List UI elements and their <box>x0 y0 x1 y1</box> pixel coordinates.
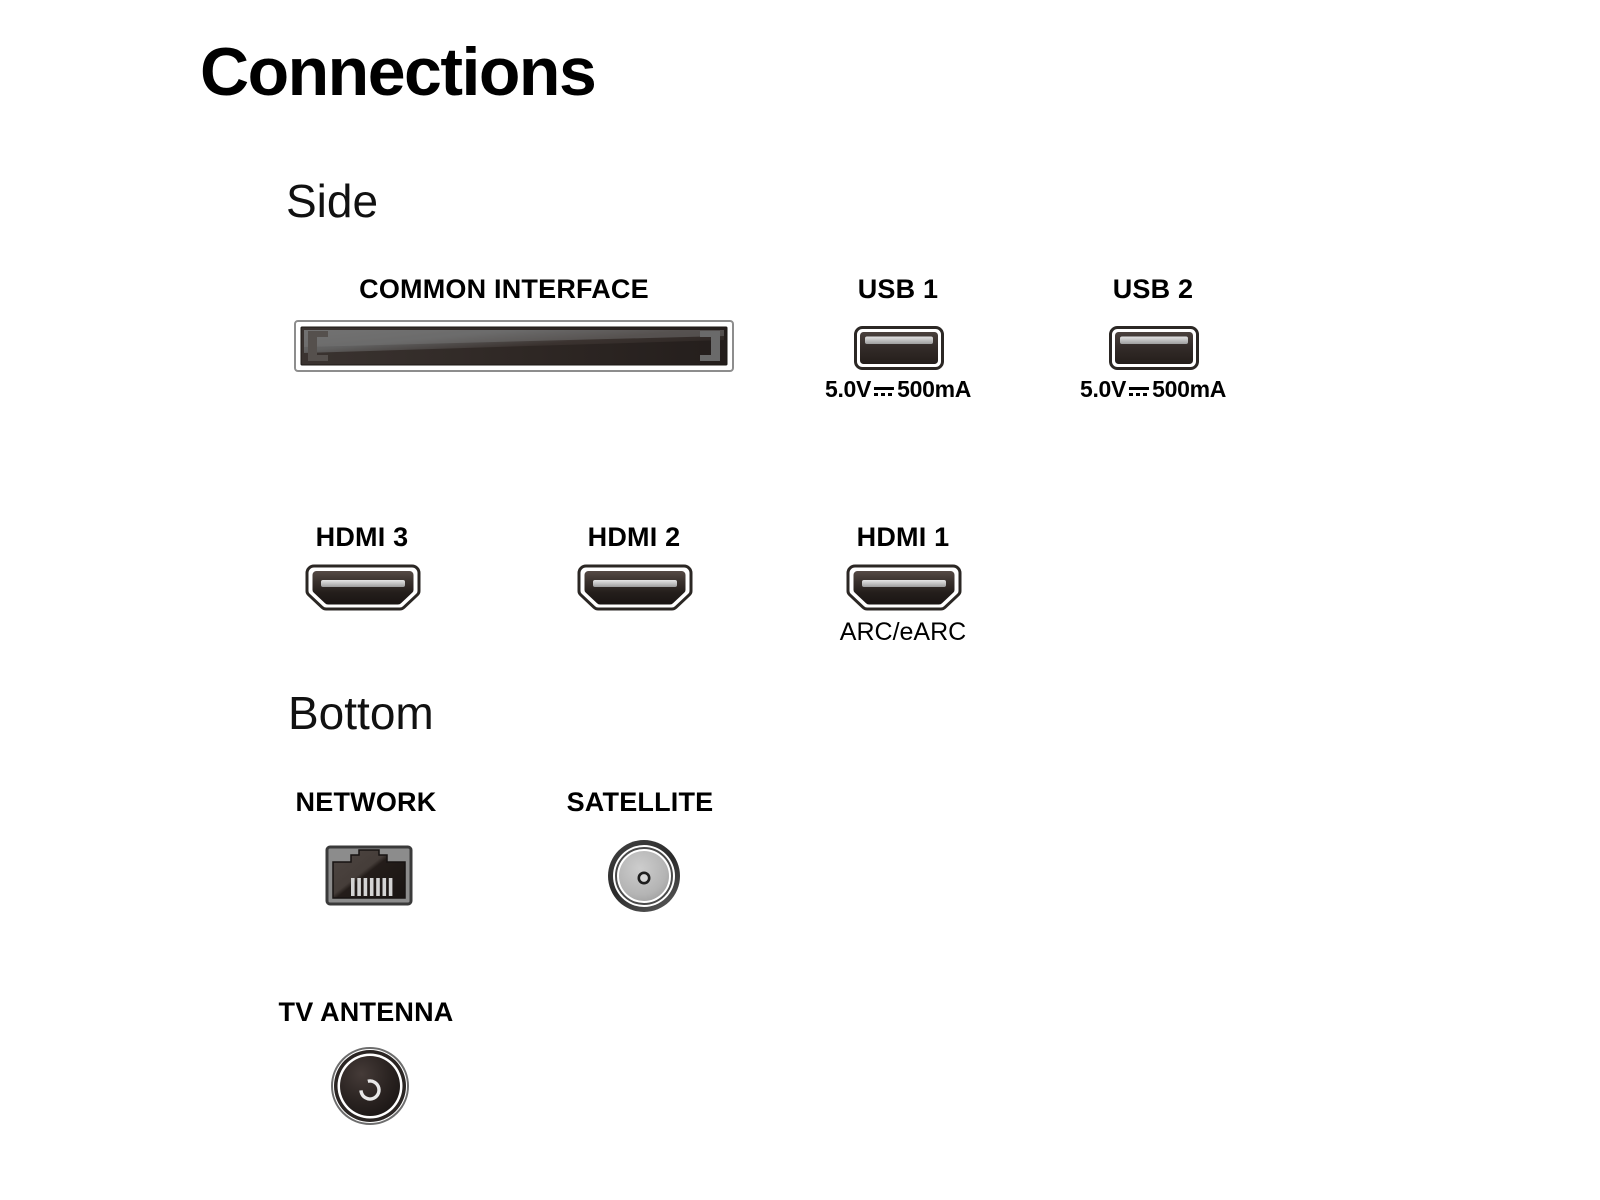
connections-page: Connections Side COMMON INTERFACE <box>0 0 1600 1200</box>
coax-antenna-port-icon[interactable] <box>330 1046 410 1126</box>
usb-port-icon[interactable] <box>1109 326 1199 370</box>
section-heading-side: Side <box>286 178 378 224</box>
port-label-satellite: SATELLITE <box>567 789 714 816</box>
usb-port-icon[interactable] <box>854 326 944 370</box>
rj45-ethernet-port-icon[interactable] <box>325 840 413 910</box>
hdmi-port-icon[interactable] <box>846 564 962 612</box>
port-spec-usb-2: 5.0V500mA <box>1080 378 1226 401</box>
hdmi-port-icon[interactable] <box>577 564 693 612</box>
dc-symbol-icon <box>872 384 896 398</box>
port-label-network: NETWORK <box>296 789 437 816</box>
port-label-usb-1: USB 1 <box>858 276 939 303</box>
f-connector-coax-port-icon[interactable] <box>605 837 683 915</box>
usb-spec-voltage: 5.0V <box>1080 376 1126 402</box>
port-spec-usb-1: 5.0V500mA <box>825 378 971 401</box>
dc-symbol-icon <box>1127 384 1151 398</box>
port-label-hdmi-3: HDMI 3 <box>316 524 409 551</box>
usb-spec-current: 500mA <box>1152 376 1226 402</box>
ci-slot-icon[interactable] <box>294 320 734 372</box>
hdmi-port-icon[interactable] <box>305 564 421 612</box>
port-label-common-interface: COMMON INTERFACE <box>359 276 649 303</box>
page-title: Connections <box>200 38 595 106</box>
port-label-hdmi-2: HDMI 2 <box>588 524 681 551</box>
port-sublabel-hdmi-1-arc: ARC/eARC <box>840 620 966 645</box>
port-label-usb-2: USB 2 <box>1113 276 1194 303</box>
section-heading-bottom: Bottom <box>288 690 434 736</box>
usb-spec-voltage: 5.0V <box>825 376 871 402</box>
port-label-hdmi-1: HDMI 1 <box>857 524 950 551</box>
port-label-tv-antenna: TV ANTENNA <box>279 999 454 1026</box>
usb-spec-current: 500mA <box>897 376 971 402</box>
